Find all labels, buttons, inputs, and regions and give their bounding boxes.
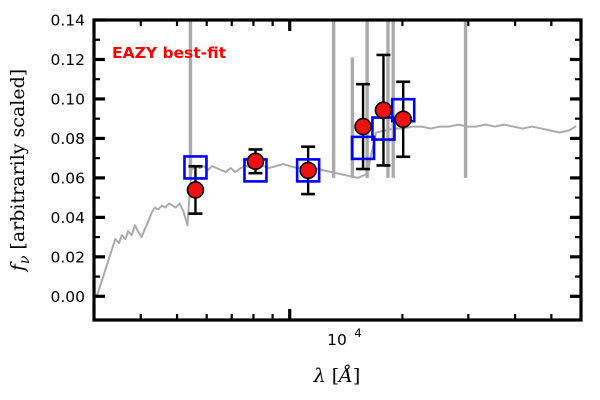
observed-photometry-point — [395, 111, 411, 127]
eazy-bestfit-annotation: EAZY best-fit — [112, 44, 227, 62]
y-tick-label: 0.04 — [50, 209, 85, 227]
observed-photometry-point — [300, 162, 316, 178]
x-axis-title: λ [Å] — [313, 365, 361, 387]
axis-tick-labels: 0.000.020.040.060.080.100.120.14 — [50, 12, 85, 306]
y-tick-label: 0.08 — [50, 130, 85, 148]
x-axis-symbol: λ — [313, 365, 326, 387]
observed-photometry-point — [375, 102, 391, 118]
y-tick-label: 0.02 — [50, 248, 85, 266]
sed-plot: 0.000.020.040.060.080.100.120.14 10 4 λ … — [0, 0, 600, 400]
x-axis-title-text: λ [Å] — [313, 365, 361, 387]
y-tick-label: 0.06 — [50, 169, 85, 187]
x-tick-mantissa: 10 — [327, 331, 347, 349]
observed-photometry-point — [187, 182, 203, 198]
observed-photometry-point — [247, 153, 263, 169]
y-axis-title-text: fν [arbitrarily scaled] — [7, 69, 33, 273]
y-tick-label: 0.14 — [50, 12, 85, 30]
x-tick-label-1e4: 10 4 — [327, 326, 362, 349]
figure-canvas: 0.000.020.040.060.080.100.120.14 10 4 λ … — [0, 0, 600, 400]
observed-photometry-point — [355, 119, 371, 135]
y-axis-title: fν [arbitrarily scaled] — [7, 69, 33, 273]
y-tick-label: 0.00 — [50, 288, 85, 306]
y-tick-label: 0.12 — [50, 51, 85, 69]
plot-area — [94, 20, 581, 320]
x-axis-unit: Å — [337, 365, 353, 387]
x-tick-exponent: 4 — [354, 326, 361, 340]
y-tick-label: 0.10 — [50, 90, 85, 108]
